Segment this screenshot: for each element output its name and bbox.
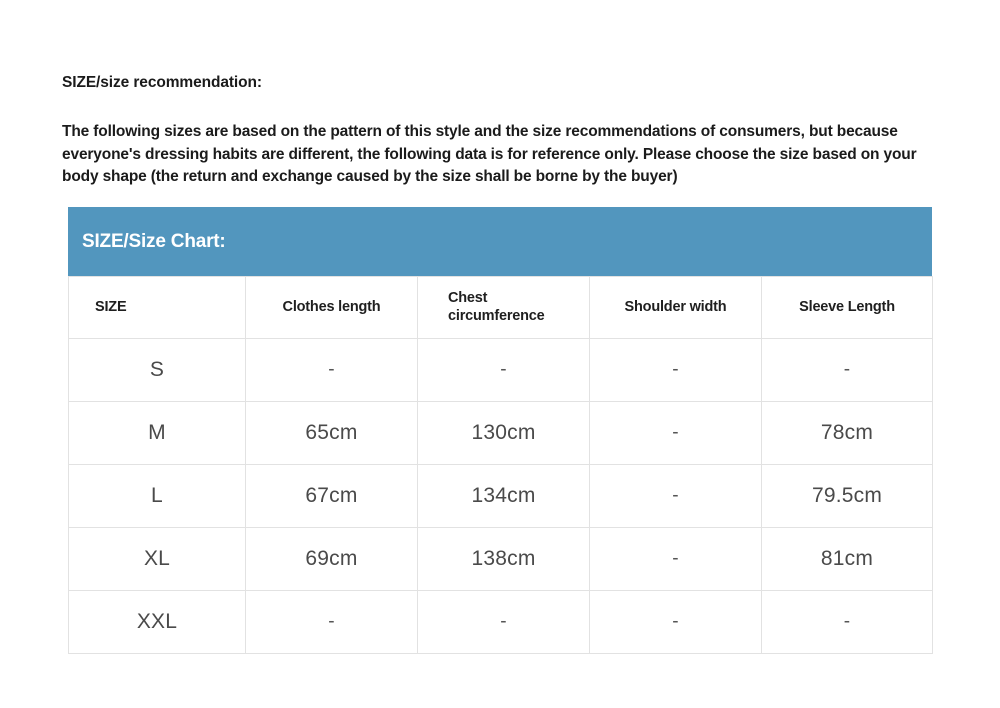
- cell-sleeve-length: 78cm: [762, 402, 933, 465]
- table-header-row: SIZE Clothes length Chest circumference …: [69, 277, 933, 339]
- size-chart: SIZE/Size Chart: SIZE Clothes length Che…: [68, 207, 932, 654]
- column-header-chest-circumference: Chest circumference: [418, 277, 590, 339]
- cell-clothes-length: -: [246, 591, 418, 654]
- size-table: SIZE Clothes length Chest circumference …: [68, 276, 933, 654]
- cell-shoulder-width: -: [590, 465, 762, 528]
- cell-sleeve-length: 81cm: [762, 528, 933, 591]
- cell-chest-circumference: -: [418, 591, 590, 654]
- cell-clothes-length: 69cm: [246, 528, 418, 591]
- cell-clothes-length: 65cm: [246, 402, 418, 465]
- table-row: L 67cm 134cm - 79.5cm: [69, 465, 933, 528]
- cell-chest-circumference: -: [418, 339, 590, 402]
- cell-clothes-length: 67cm: [246, 465, 418, 528]
- cell-shoulder-width: -: [590, 528, 762, 591]
- cell-size: M: [69, 402, 246, 465]
- table-row: XL 69cm 138cm - 81cm: [69, 528, 933, 591]
- table-body: S - - - - M 65cm 130cm - 78cm L 67cm 134…: [69, 339, 933, 654]
- table-row: S - - - -: [69, 339, 933, 402]
- column-header-shoulder-width: Shoulder width: [590, 277, 762, 339]
- cell-size: S: [69, 339, 246, 402]
- table-head: SIZE Clothes length Chest circumference …: [69, 277, 933, 339]
- chart-title: SIZE/Size Chart:: [82, 231, 226, 253]
- cell-chest-circumference: 130cm: [418, 402, 590, 465]
- cell-size: L: [69, 465, 246, 528]
- cell-shoulder-width: -: [590, 339, 762, 402]
- cell-sleeve-length: 79.5cm: [762, 465, 933, 528]
- cell-clothes-length: -: [246, 339, 418, 402]
- table-row: M 65cm 130cm - 78cm: [69, 402, 933, 465]
- intro-block: SIZE/size recommendation: The following …: [62, 74, 934, 189]
- chart-title-bar: SIZE/Size Chart:: [68, 207, 932, 276]
- cell-shoulder-width: -: [590, 402, 762, 465]
- cell-shoulder-width: -: [590, 591, 762, 654]
- cell-chest-circumference: 134cm: [418, 465, 590, 528]
- cell-sleeve-length: -: [762, 339, 933, 402]
- size-chart-page: SIZE/size recommendation: The following …: [0, 0, 1000, 708]
- cell-sleeve-length: -: [762, 591, 933, 654]
- column-header-sleeve-length: Sleeve Length: [762, 277, 933, 339]
- column-header-clothes-length: Clothes length: [246, 277, 418, 339]
- cell-size: XXL: [69, 591, 246, 654]
- cell-chest-circumference: 138cm: [418, 528, 590, 591]
- table-row: XXL - - - -: [69, 591, 933, 654]
- column-header-size: SIZE: [69, 277, 246, 339]
- intro-paragraph: The following sizes are based on the pat…: [62, 121, 934, 190]
- intro-heading: SIZE/size recommendation:: [62, 74, 934, 93]
- cell-size: XL: [69, 528, 246, 591]
